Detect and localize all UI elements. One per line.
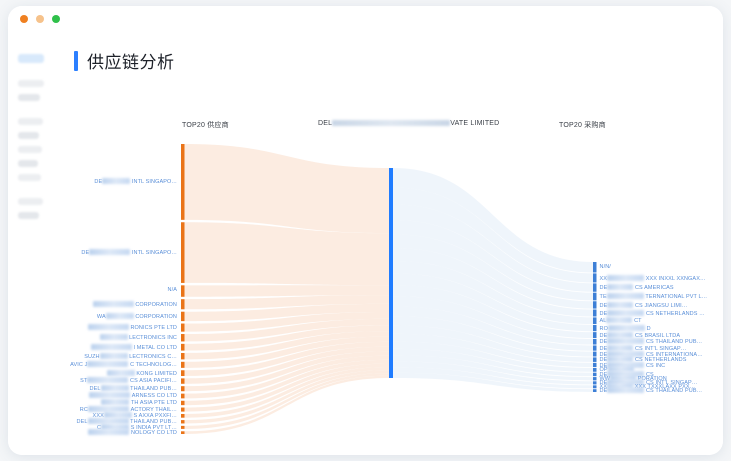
buyer-label-4[interactable]: DE CS JIANGSU LIMI… (600, 302, 688, 309)
sankey-node-buyer-10[interactable] (593, 345, 597, 350)
column-label-suppliers: TOP20 供应商 (182, 120, 229, 130)
sankey-node-buyer-17[interactable] (593, 381, 597, 384)
supplier-label-4[interactable]: WA CORPORATION (97, 313, 177, 320)
sankey-node-buyer-0[interactable] (593, 262, 597, 272)
buyer-label-19[interactable]: DE CS THAILAND PUB… (600, 387, 703, 394)
sankey-node-buyer-1[interactable] (593, 273, 597, 282)
supplier-label-12[interactable]: DEL THAILAND PUB… (90, 385, 177, 392)
sankey-node-supplier-1[interactable] (181, 222, 185, 283)
traffic-lights (20, 15, 60, 23)
sidebar (8, 32, 56, 455)
sankey-node-buyer-18[interactable] (593, 385, 597, 388)
buyer-label-3[interactable]: TE TERNATIONAL PVT L… (600, 293, 708, 300)
sankey-node-buyer-16[interactable] (593, 377, 597, 380)
sankey-node-buyer-6[interactable] (593, 317, 597, 324)
sidebar-item-9[interactable] (18, 212, 39, 219)
app-root: 供应链分析 TOP20 供应商 DELVATE LIMITED TOP20 采购… (0, 0, 731, 461)
supplier-label-7[interactable]: I METAL CO LTD (91, 344, 177, 351)
supplier-label-0[interactable]: DE INTL SINGAPO… (94, 178, 177, 185)
sidebar-item-5[interactable] (18, 146, 42, 153)
page-title-text: 供应链分析 (87, 48, 175, 73)
sankey-node-supplier-16[interactable] (181, 414, 185, 418)
sidebar-item-1[interactable] (18, 80, 44, 87)
sankey-chart: TOP20 供应商 DELVATE LIMITED TOP20 采购商 DE I… (56, 82, 723, 455)
sankey-node-buyer-11[interactable] (593, 352, 597, 357)
sankey-node-buyer-8[interactable] (593, 332, 597, 338)
supplier-label-6[interactable]: LECTRONICS INC (100, 334, 178, 341)
sidebar-item-7[interactable] (18, 174, 41, 181)
sankey-node-buyer-19[interactable] (593, 389, 597, 392)
sankey-node-supplier-6[interactable] (181, 334, 185, 341)
sankey-node-supplier-4[interactable] (181, 312, 185, 321)
sankey-link[interactable] (185, 285, 390, 296)
browser-window: 供应链分析 TOP20 供应商 DELVATE LIMITED TOP20 采购… (8, 6, 723, 455)
sidebar-item-8[interactable] (18, 198, 43, 205)
sankey-link[interactable] (185, 144, 390, 233)
sankey-node-buyer-2[interactable] (593, 283, 597, 291)
sankey-node-supplier-19[interactable] (181, 431, 185, 434)
supplier-label-3[interactable]: CORPORATION (93, 301, 177, 308)
sidebar-item-0[interactable] (18, 54, 44, 63)
sankey-node-supplier-7[interactable] (181, 344, 185, 351)
sidebar-item-4[interactable] (18, 132, 39, 139)
sankey-node-supplier-15[interactable] (181, 408, 185, 412)
sidebar-item-6[interactable] (18, 160, 38, 167)
column-label-focal-suffix: VATE LIMITED (450, 120, 499, 127)
supplier-label-9[interactable]: AVIC J C TECHNOLOG… (70, 361, 177, 368)
supplier-label-5[interactable]: RONICS PTE LTD (88, 324, 177, 331)
buyer-label-7[interactable]: RO D (600, 325, 651, 332)
sankey-node-supplier-9[interactable] (181, 362, 185, 368)
sankey-node-buyer-3[interactable] (593, 293, 597, 301)
sankey-node-supplier-17[interactable] (181, 420, 185, 423)
title-accent-bar (74, 51, 78, 71)
sankey-node-supplier-2[interactable] (181, 285, 185, 296)
sankey-node-buyer-4[interactable] (593, 301, 597, 308)
minimize-icon[interactable] (36, 15, 44, 23)
close-icon[interactable] (20, 15, 28, 23)
sankey-node-supplier-0[interactable] (181, 144, 185, 220)
sankey-node-buyer-5[interactable] (593, 309, 597, 316)
supplier-label-2[interactable]: N/A (168, 287, 177, 293)
buyer-label-2[interactable]: DE CS AMERICAS (600, 284, 674, 291)
sankey-node-buyer-13[interactable] (593, 363, 597, 367)
sidebar-item-3[interactable] (18, 118, 43, 125)
sankey-node-supplier-5[interactable] (181, 324, 185, 332)
sankey-node-supplier-10[interactable] (181, 370, 185, 376)
window-titlebar (8, 6, 723, 32)
sankey-node-buyer-7[interactable] (593, 325, 597, 331)
sankey-node-supplier-13[interactable] (181, 394, 185, 399)
buyer-label-6[interactable]: AL CT (600, 317, 642, 324)
supplier-label-1[interactable]: DE INTL SINGAPO… (81, 249, 177, 256)
buyer-label-0[interactable]: N/N/ (600, 264, 611, 270)
column-label-buyers: TOP20 采购商 (559, 120, 606, 130)
column-label-focal: DELVATE LIMITED (318, 120, 499, 127)
supplier-label-11[interactable]: ST CS ASIA PACIFI… (80, 377, 177, 384)
buyer-label-1[interactable]: XX XXX INXXL XXNGAX… (600, 275, 706, 282)
sankey-node-supplier-11[interactable] (181, 378, 185, 383)
sankey-node-buyer-14[interactable] (593, 368, 597, 372)
main-content: 供应链分析 TOP20 供应商 DELVATE LIMITED TOP20 采购… (56, 32, 723, 455)
sankey-node-buyer-15[interactable] (593, 373, 597, 376)
supplier-label-13[interactable]: ARNESS CO LTD (89, 392, 177, 399)
sankey-node-supplier-14[interactable] (181, 401, 185, 405)
sankey-node-buyer-12[interactable] (593, 357, 597, 362)
sankey-node-supplier-3[interactable] (181, 299, 185, 309)
sankey-node-focal[interactable] (389, 168, 393, 378)
page-title: 供应链分析 (74, 48, 175, 73)
sankey-node-supplier-12[interactable] (181, 386, 185, 391)
sankey-node-buyer-9[interactable] (593, 339, 597, 345)
supplier-label-10[interactable]: KONG LIMITED (107, 370, 177, 377)
supplier-label-19[interactable]: NOLOGY CO LTD (88, 429, 177, 436)
sankey-node-supplier-18[interactable] (181, 426, 185, 429)
sidebar-item-2[interactable] (18, 94, 40, 101)
sankey-node-supplier-8[interactable] (181, 353, 185, 359)
supplier-label-8[interactable]: SUZH LECTRONICS C… (84, 353, 177, 360)
buyer-label-5[interactable]: DE CS NETHERLANDS … (600, 310, 705, 317)
maximize-icon[interactable] (52, 15, 60, 23)
column-label-focal-prefix: DEL (318, 120, 332, 127)
